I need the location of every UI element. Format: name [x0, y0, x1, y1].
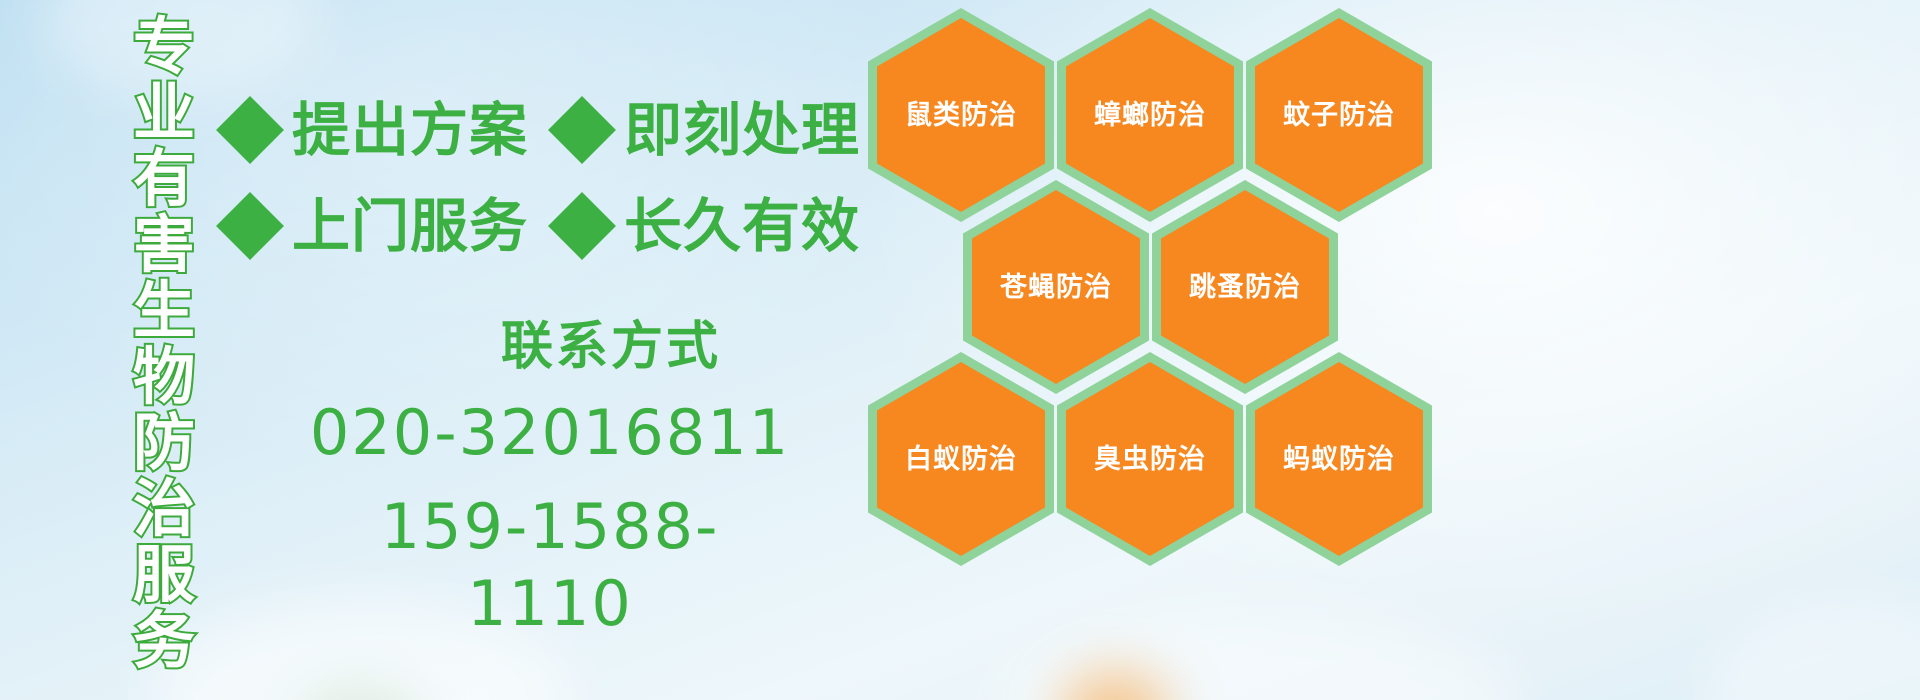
headline-char: 专	[133, 14, 195, 80]
contact-block: 联系方式 020-32016811 159-1588-1110	[300, 316, 800, 643]
headline-char: 防	[133, 410, 195, 476]
hex-cell-mosquito[interactable]: 蚊子防治	[1246, 8, 1432, 222]
headline-char: 务	[133, 608, 195, 674]
hex-inner: 臭虫防治	[1066, 362, 1234, 556]
hex-label: 蟑螂防治	[1094, 102, 1206, 129]
background-blur-blob	[1060, 670, 1170, 700]
headline-char: 害	[133, 212, 195, 278]
feature-label: 即刻处理	[624, 101, 860, 159]
hex-label: 白蚁防治	[905, 446, 1017, 473]
hex-cell-cockroach[interactable]: 蟑螂防治	[1057, 8, 1243, 222]
headline-char: 治	[133, 476, 195, 542]
feature-item: 长久有效	[558, 197, 860, 255]
background-blur-blob	[300, 690, 420, 700]
feature-item: 提出方案	[226, 101, 528, 159]
hex-cell-fly[interactable]: 苍蝇防治	[963, 180, 1149, 394]
feature-list: 提出方案 即刻处理 上门服务 长久有效	[226, 82, 866, 274]
hex-cell-termite[interactable]: 白蚁防治	[868, 352, 1054, 566]
background-blur-blob	[1700, 600, 1920, 700]
hex-cell-ant[interactable]: 蚂蚁防治	[1246, 352, 1432, 566]
feature-label: 上门服务	[292, 197, 528, 255]
headline-char: 服	[133, 542, 195, 608]
diamond-icon	[548, 96, 616, 164]
service-honeycomb: 鼠类防治 蟑螂防治 蚊子防治 苍蝇防治 跳蚤防治 白蚁防治	[860, 0, 1460, 570]
background-blur-blob	[1000, 610, 1520, 700]
contact-title: 联系方式	[422, 316, 800, 378]
hex-label: 蚂蚁防治	[1283, 446, 1395, 473]
hex-inner: 苍蝇防治	[972, 190, 1140, 384]
hex-cell-flea[interactable]: 跳蚤防治	[1152, 180, 1338, 394]
hex-cell-rodent[interactable]: 鼠类防治	[868, 8, 1054, 222]
feature-label: 长久有效	[624, 197, 860, 255]
headline-char: 物	[133, 344, 195, 410]
hex-label: 苍蝇防治	[1000, 274, 1112, 301]
phone-number-mobile[interactable]: 159-1588-1110	[300, 488, 800, 643]
vertical-headline: 专 业 有 害 生 物 防 治 服 务	[112, 14, 216, 554]
hex-label: 跳蚤防治	[1189, 274, 1301, 301]
hex-inner: 跳蚤防治	[1161, 190, 1329, 384]
diamond-icon	[216, 192, 284, 260]
hex-cell-bedbug[interactable]: 臭虫防治	[1057, 352, 1243, 566]
diamond-icon	[216, 96, 284, 164]
feature-row: 提出方案 即刻处理	[226, 82, 866, 178]
feature-item: 上门服务	[226, 197, 528, 255]
hex-label: 鼠类防治	[905, 102, 1017, 129]
hex-inner: 白蚁防治	[877, 362, 1045, 556]
hex-inner: 蟑螂防治	[1066, 18, 1234, 212]
hex-label: 蚊子防治	[1283, 102, 1395, 129]
diamond-icon	[548, 192, 616, 260]
headline-char: 生	[133, 278, 195, 344]
phone-number-primary[interactable]: 020-32016811	[300, 394, 800, 472]
hex-inner: 蚂蚁防治	[1255, 362, 1423, 556]
hex-inner: 鼠类防治	[877, 18, 1045, 212]
feature-label: 提出方案	[292, 101, 528, 159]
hex-inner: 蚊子防治	[1255, 18, 1423, 212]
headline-char: 有	[133, 146, 195, 212]
headline-char: 业	[133, 80, 195, 146]
promo-banner: 专 业 有 害 生 物 防 治 服 务 提出方案 即刻处理 上门服务	[0, 0, 1920, 700]
feature-item: 即刻处理	[558, 101, 860, 159]
feature-row: 上门服务 长久有效	[226, 178, 866, 274]
hex-label: 臭虫防治	[1094, 446, 1206, 473]
